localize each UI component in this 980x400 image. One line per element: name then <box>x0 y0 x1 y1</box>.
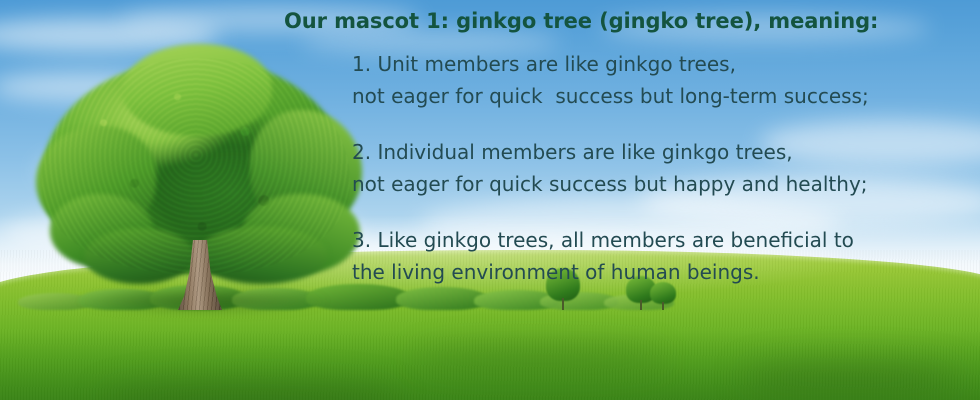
paragraph-line: the living environment of human beings. <box>352 256 952 288</box>
paragraph-2: 2. Individual members are like ginkgo tr… <box>352 136 952 200</box>
paragraph-line: not eager for quick success but happy an… <box>352 168 952 200</box>
paragraph-line: 3. Like ginkgo trees, all members are be… <box>352 224 952 256</box>
mascot-description: 1. Unit members are like ginkgo trees, n… <box>352 48 952 288</box>
page-title: Our mascot 1: ginkgo tree (gingko tree),… <box>284 9 878 33</box>
mascot-banner: Our mascot 1: ginkgo tree (gingko tree),… <box>0 0 980 400</box>
broadleaf-tree-icon <box>36 44 356 306</box>
paragraph-line: 1. Unit members are like ginkgo trees, <box>352 48 952 80</box>
paragraph-line: not eager for quick success but long-ter… <box>352 80 952 112</box>
paragraph-1: 1. Unit members are like ginkgo trees, n… <box>352 48 952 112</box>
paragraph-3: 3. Like ginkgo trees, all members are be… <box>352 224 952 288</box>
paragraph-line: 2. Individual members are like ginkgo tr… <box>352 136 952 168</box>
grass-shadow <box>0 330 980 400</box>
